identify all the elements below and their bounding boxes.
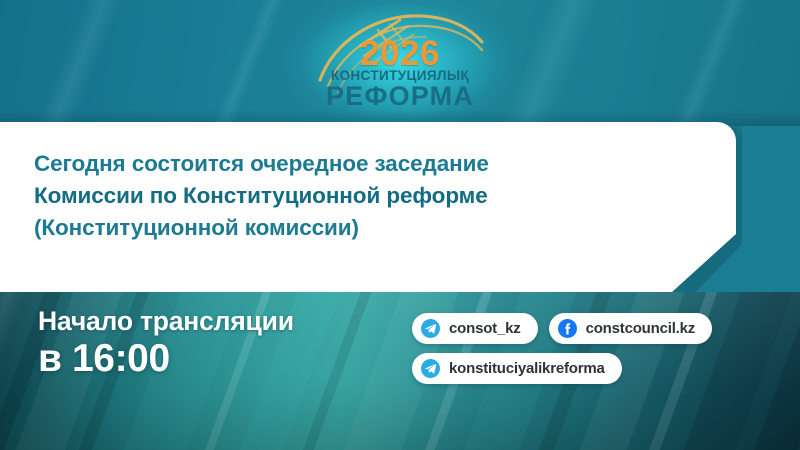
telegram-icon: [421, 319, 440, 338]
broadcast-time: в 16:00: [38, 339, 398, 380]
announcement-text-block: Сегодня состоится очередное заседание Ко…: [34, 148, 694, 245]
headline-line-1: Сегодня состоится очередное заседание: [34, 148, 694, 180]
telegram-icon: [421, 359, 440, 378]
light-streak: [186, 0, 296, 126]
light-streak: [11, 0, 132, 126]
social-badge-facebook-constcouncil-kz[interactable]: constcouncil.kz: [549, 313, 713, 344]
social-badges-row-1: consot_kz constcouncil.kz: [412, 313, 712, 344]
broadcast-time-block: Начало трансляции в 16:00: [38, 306, 398, 380]
logo-reforma-word: РЕФОРМА: [304, 81, 496, 112]
social-badges: consot_kz constcouncil.kz konstituciyali…: [412, 313, 712, 393]
headline-line-2: Комиссии по Конституционной реформе: [34, 180, 694, 212]
announcement-panel: Сегодня состоится очередное заседание Ко…: [0, 122, 736, 292]
social-handle: constcouncil.kz: [586, 320, 696, 337]
social-handle: consot_kz: [449, 320, 521, 337]
light-streak: [477, 0, 610, 126]
broadcast-label: Начало трансляции: [38, 306, 398, 337]
headline-line-3: (Конституционной комиссии): [34, 212, 694, 244]
social-handle: konstituciyalikreforma: [449, 360, 605, 377]
social-badge-telegram-konstituciyalikreforma[interactable]: konstituciyalikreforma: [412, 353, 622, 384]
social-badge-telegram-consot-kz[interactable]: consot_kz: [412, 313, 538, 344]
light-streak: [646, 0, 760, 126]
announcement-headline: Сегодня состоится очередное заседание Ко…: [34, 148, 694, 245]
broadcast-announcement-slide: 2026 КОНСТИТУЦИЯЛЫҚ РЕФОРМА Сегодня сост…: [0, 0, 800, 450]
social-badges-row-2: konstituciyalikreforma: [412, 353, 712, 384]
constitutional-reform-logo: 2026 КОНСТИТУЦИЯЛЫҚ РЕФОРМА: [304, 6, 496, 118]
facebook-icon: [558, 319, 577, 338]
